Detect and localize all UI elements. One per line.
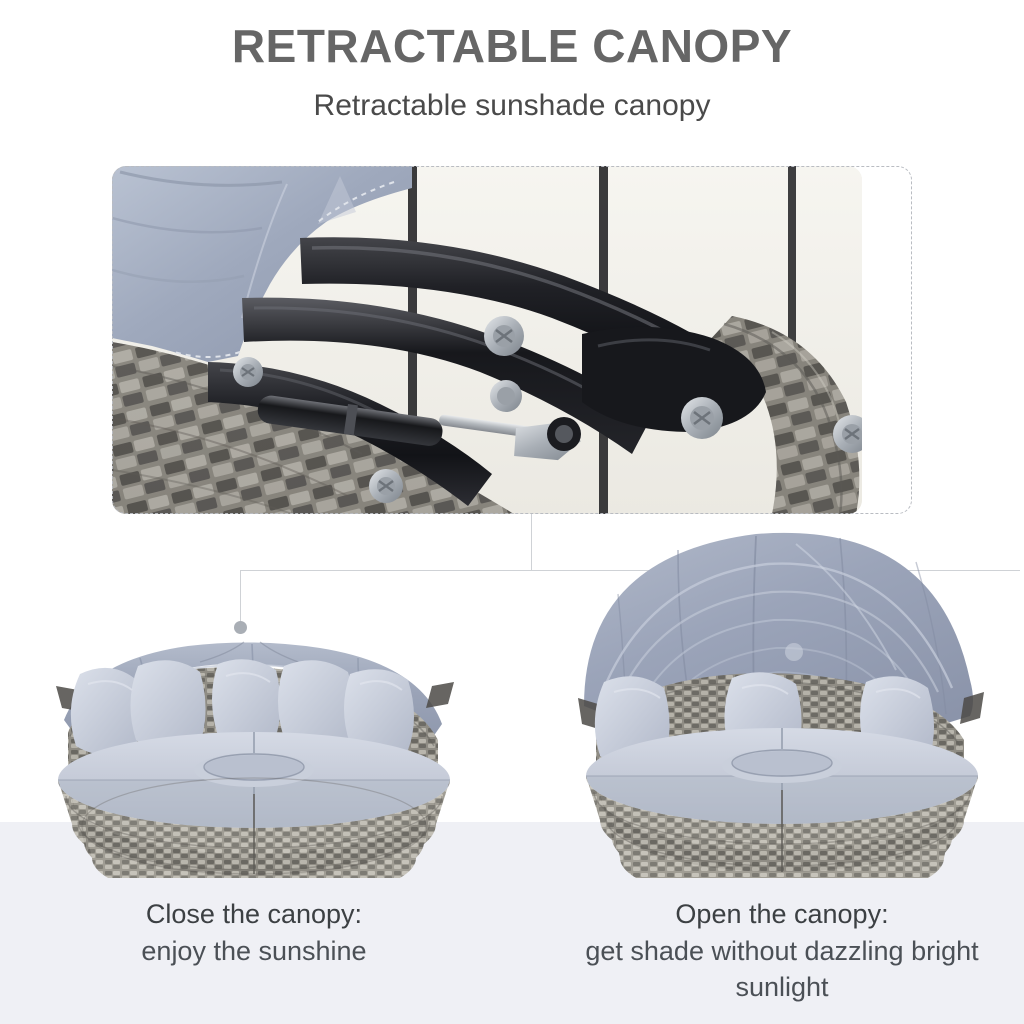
- infographic-canvas: RETRACTABLE CANOPY Retractable sunshade …: [0, 0, 1024, 1024]
- page-title: RETRACTABLE CANOPY: [0, 22, 1024, 72]
- connector-line-vertical-top: [531, 514, 532, 571]
- caption-canopy-open: Open the canopy: get shade without dazzl…: [556, 896, 1008, 1006]
- caption-canopy-closed: Close the canopy: enjoy the sunshine: [28, 896, 480, 969]
- daybed-canopy-closed-photo: [28, 628, 480, 878]
- caption-closed-line1: Close the canopy:: [28, 896, 480, 933]
- caption-closed-line2: enjoy the sunshine: [28, 933, 480, 970]
- detail-dashed-border: [112, 166, 912, 514]
- caption-open-line1: Open the canopy:: [556, 896, 1008, 933]
- daybed-canopy-open-photo: [556, 520, 1008, 878]
- connector-line-vertical-bottom: [240, 570, 241, 622]
- page-subtitle: Retractable sunshade canopy: [0, 88, 1024, 124]
- caption-open-line2: get shade without dazzling bright sunlig…: [556, 933, 1008, 1006]
